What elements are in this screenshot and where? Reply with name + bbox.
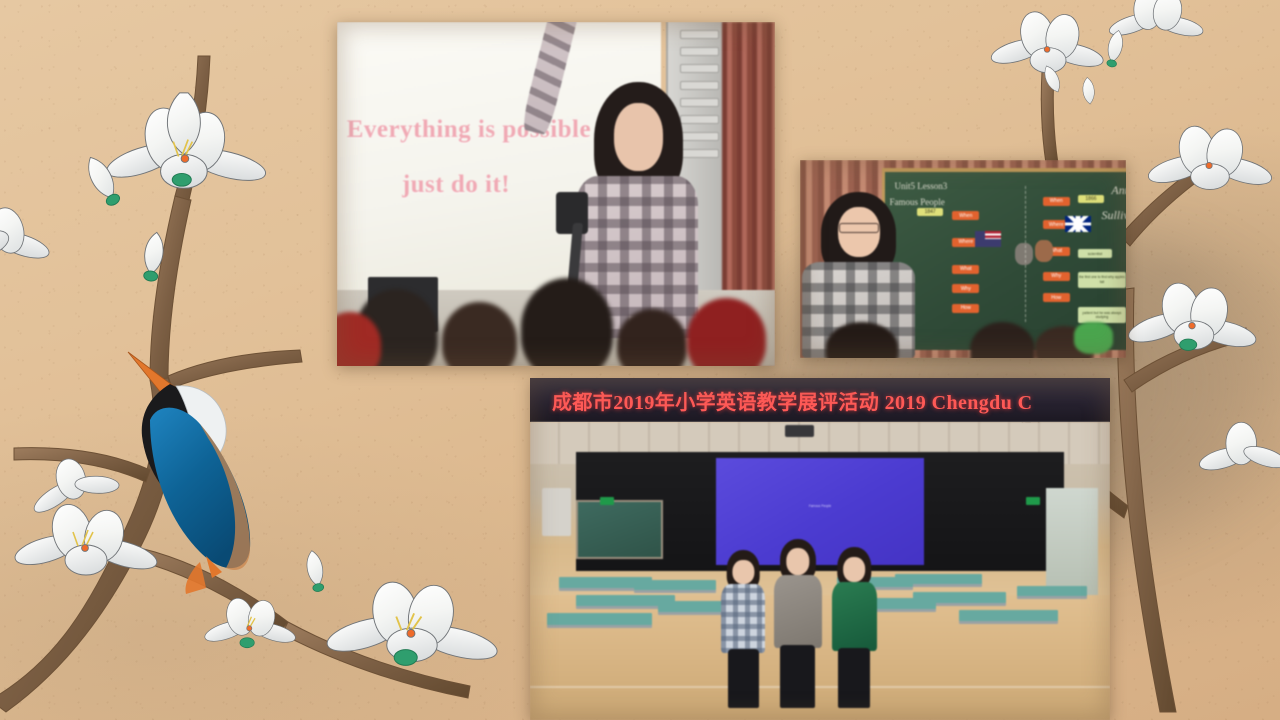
board-card-why-left: Why	[952, 284, 979, 293]
student-desk	[634, 580, 715, 590]
board-date-card-right: 1866	[1078, 195, 1104, 203]
teacher-face	[614, 103, 663, 171]
portrait-isaac-newton	[1035, 240, 1053, 262]
student-desk	[959, 610, 1058, 622]
eyeglasses-icon	[839, 223, 879, 233]
united-kingdom-flag-icon	[1065, 216, 1091, 232]
board-card-why-right: Why	[1043, 272, 1070, 281]
united-states-flag-icon	[975, 231, 1001, 247]
projection-screen-text: Famous People	[809, 504, 831, 508]
exit-sign-right	[1026, 497, 1040, 505]
board-card-how-left: How	[952, 304, 979, 313]
exit-sign-left	[600, 497, 614, 505]
side-door	[1046, 488, 1098, 595]
student-heads-row	[337, 277, 775, 366]
collage-stage: Everything is possible just do it!	[0, 0, 1280, 720]
board-role-card: scientist	[1078, 249, 1112, 258]
student-desk	[1017, 586, 1087, 596]
photo-teacher-blackboard[interactable]: Unit5 Lesson3 Famous People Ann Sullivan…	[800, 160, 1126, 358]
board-heading-line-1: Unit5 Lesson3	[895, 181, 948, 191]
green-object	[1074, 322, 1113, 354]
photo-teacher-pointing[interactable]: Everything is possible just do it!	[337, 22, 775, 366]
board-divider	[1025, 186, 1026, 321]
person-teacher-right	[832, 547, 877, 705]
board-card-when-left: When	[952, 211, 979, 220]
portrait-helen-keller	[1015, 243, 1033, 265]
board-name-line-1: Ann	[1111, 183, 1126, 198]
student-desk	[547, 613, 651, 625]
board-card-what-left: What	[952, 265, 979, 274]
person-teacher-left	[721, 550, 765, 705]
ceiling-projector	[785, 425, 814, 437]
board-card-how-right: How	[1043, 293, 1070, 302]
board-note-card-1: the first one to find why apples fall	[1078, 272, 1126, 288]
lecture-classroom: Famous People	[530, 422, 1110, 720]
board-note-card-2: patient but he was always studying	[1078, 307, 1126, 323]
board-name-line-2: Sullivan	[1101, 208, 1126, 223]
portable-green-board	[576, 500, 663, 560]
air-conditioner	[542, 488, 571, 536]
led-banner: 成都市2019年小学英语教学展评活动 2019 Chengdu C	[530, 378, 1110, 422]
board-card-when-right: When	[1043, 197, 1070, 206]
person-teacher-center	[774, 539, 823, 706]
photo-classroom-group[interactable]: 成都市2019年小学英语教学展评活动 2019 Chengdu C Famous…	[530, 378, 1110, 720]
board-date-card-left: 1847	[917, 208, 943, 216]
led-banner-text: 成都市2019年小学英语教学展评活动 2019 Chengdu C	[530, 386, 1032, 415]
